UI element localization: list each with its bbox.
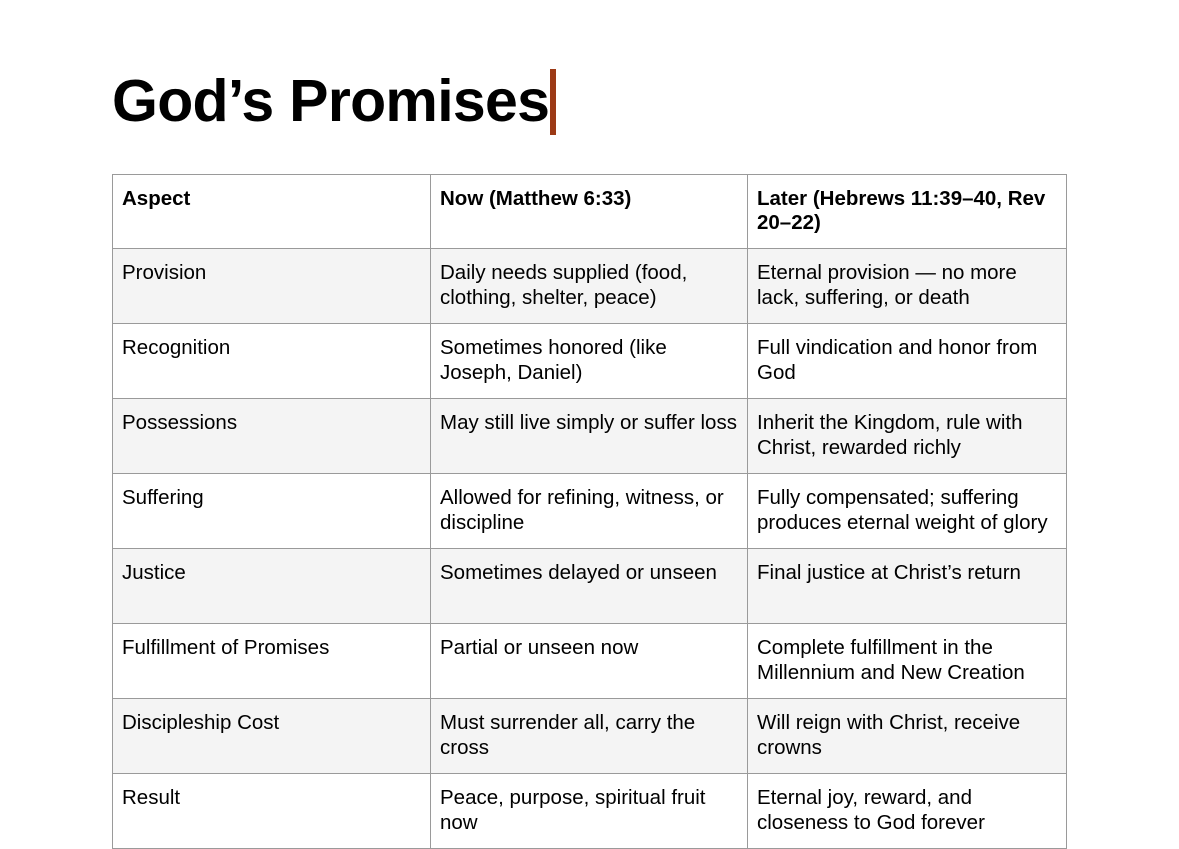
cell-aspect[interactable]: Fulfillment of Promises — [113, 624, 431, 699]
cell-later[interactable]: Full vindication and honor from God — [748, 324, 1067, 399]
table-row[interactable]: RecognitionSometimes honored (like Josep… — [113, 324, 1067, 399]
column-header-later[interactable]: Later (Hebrews 11:39–40, Rev 20–22) — [748, 175, 1067, 249]
cell-later[interactable]: Will reign with Christ, receive crowns — [748, 699, 1067, 774]
cell-aspect[interactable]: Possessions — [113, 399, 431, 474]
cell-aspect[interactable]: Provision — [113, 249, 431, 324]
table-row[interactable]: ProvisionDaily needs supplied (food, clo… — [113, 249, 1067, 324]
table-row[interactable]: Fulfillment of PromisesPartial or unseen… — [113, 624, 1067, 699]
cell-aspect[interactable]: Suffering — [113, 474, 431, 549]
comparison-table-container[interactable]: Aspect Now (Matthew 6:33) Later (Hebrews… — [112, 174, 1066, 849]
text-cursor-caret — [550, 69, 556, 135]
table-row[interactable]: Discipleship CostMust surrender all, car… — [113, 699, 1067, 774]
cell-aspect[interactable]: Justice — [113, 549, 431, 624]
slide-title-row[interactable]: God’s Promises — [112, 72, 556, 135]
slide-canvas: God’s Promises Aspect Now (Matthew 6:33)… — [0, 0, 1179, 841]
cell-aspect[interactable]: Discipleship Cost — [113, 699, 431, 774]
column-header-aspect[interactable]: Aspect — [113, 175, 431, 249]
comparison-table[interactable]: Aspect Now (Matthew 6:33) Later (Hebrews… — [112, 174, 1067, 849]
table-row[interactable]: SufferingAllowed for refining, witness, … — [113, 474, 1067, 549]
cell-later[interactable]: Complete fulfillment in the Millennium a… — [748, 624, 1067, 699]
table-row[interactable]: ResultPeace, purpose, spiritual fruit no… — [113, 774, 1067, 849]
cell-now[interactable]: Allowed for refining, witness, or discip… — [431, 474, 748, 549]
column-header-now[interactable]: Now (Matthew 6:33) — [431, 175, 748, 249]
cell-now[interactable]: Partial or unseen now — [431, 624, 748, 699]
cell-aspect[interactable]: Recognition — [113, 324, 431, 399]
cell-later[interactable]: Inherit the Kingdom, rule with Christ, r… — [748, 399, 1067, 474]
cell-now[interactable]: Peace, purpose, spiritual fruit now — [431, 774, 748, 849]
table-row[interactable]: JusticeSometimes delayed or unseenFinal … — [113, 549, 1067, 624]
cell-now[interactable]: Sometimes delayed or unseen — [431, 549, 748, 624]
cell-later[interactable]: Eternal joy, reward, and closeness to Go… — [748, 774, 1067, 849]
cell-aspect[interactable]: Result — [113, 774, 431, 849]
page-title[interactable]: God’s Promises — [112, 72, 549, 131]
cell-later[interactable]: Final justice at Christ’s return — [748, 549, 1067, 624]
cell-now[interactable]: Sometimes honored (like Joseph, Daniel) — [431, 324, 748, 399]
table-header-row: Aspect Now (Matthew 6:33) Later (Hebrews… — [113, 175, 1067, 249]
cell-now[interactable]: Daily needs supplied (food, clothing, sh… — [431, 249, 748, 324]
table-row[interactable]: PossessionsMay still live simply or suff… — [113, 399, 1067, 474]
cell-now[interactable]: Must surrender all, carry the cross — [431, 699, 748, 774]
table-header: Aspect Now (Matthew 6:33) Later (Hebrews… — [113, 175, 1067, 249]
cell-now[interactable]: May still live simply or suffer loss — [431, 399, 748, 474]
cell-later[interactable]: Eternal provision — no more lack, suffer… — [748, 249, 1067, 324]
cell-later[interactable]: Fully compensated; suffering produces et… — [748, 474, 1067, 549]
table-body: ProvisionDaily needs supplied (food, clo… — [113, 249, 1067, 849]
